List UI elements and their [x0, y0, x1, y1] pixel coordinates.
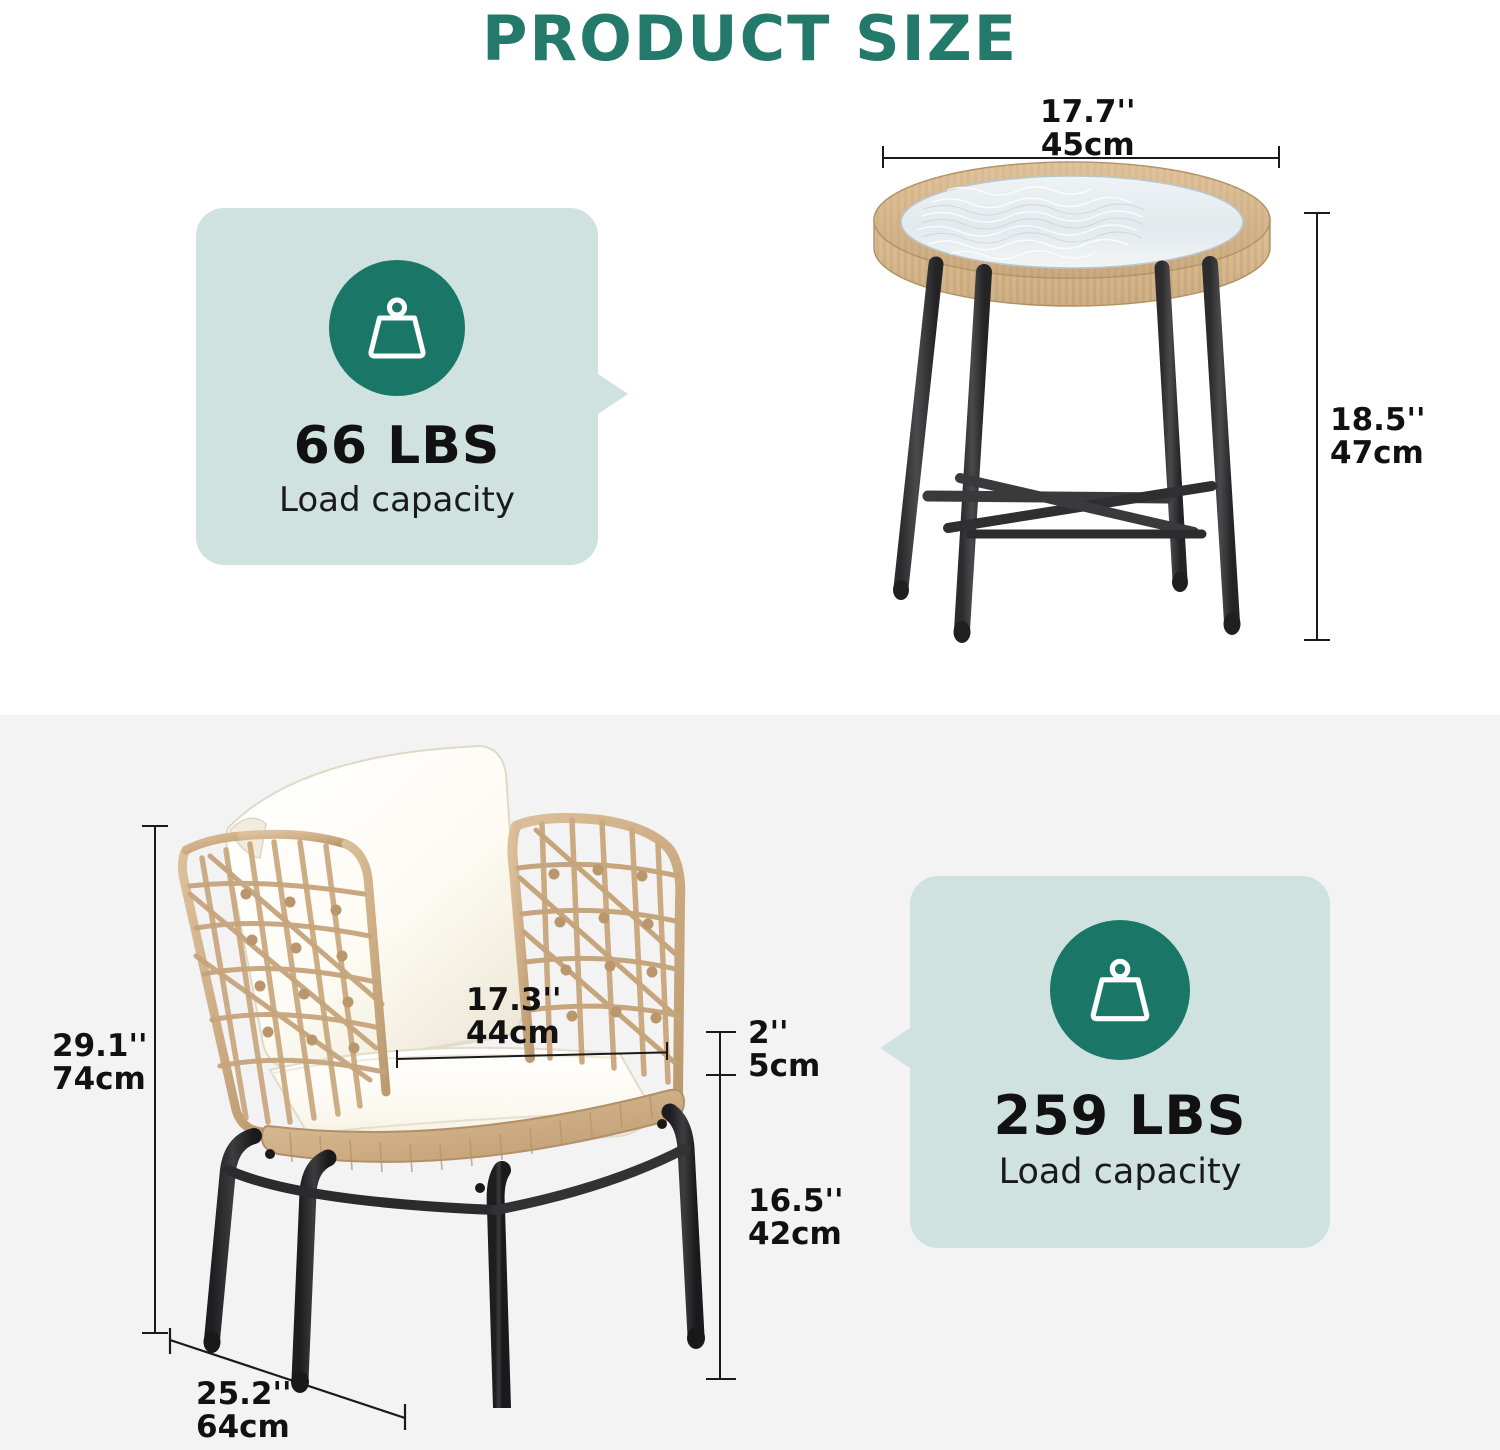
callout-table-load-capacity: 66 LBS Load capacity	[196, 208, 598, 565]
dimension-cm: 42cm	[748, 1218, 843, 1251]
capacity-value: 259 LBS	[910, 1084, 1330, 1147]
dimension-cm: 44cm	[466, 1017, 561, 1050]
dimension-cm: 47cm	[1330, 437, 1425, 470]
dimension-table-width-label: 17.7'' 45cm	[1040, 96, 1135, 163]
dimension-table-height-label: 18.5'' 47cm	[1330, 404, 1425, 471]
dimension-inch: 2''	[748, 1015, 789, 1051]
bubble-tail-left-icon	[880, 1028, 910, 1068]
capacity-label: Load capacity	[196, 480, 598, 520]
dimension-inch: 29.1''	[52, 1028, 147, 1064]
weight-icon-badge	[1050, 920, 1190, 1060]
dimension-cm: 5cm	[748, 1050, 820, 1083]
capacity-value: 66 LBS	[196, 416, 598, 476]
dimension-seat-width-label: 17.3'' 44cm	[466, 984, 561, 1051]
dimension-chair-width-line	[140, 1310, 430, 1430]
dimension-inch: 17.7''	[1040, 94, 1135, 130]
dimension-inch: 16.5''	[748, 1183, 843, 1219]
dimension-inch: 18.5''	[1330, 402, 1425, 438]
dimension-inch: 17.3''	[466, 982, 561, 1018]
armchair-illustration	[150, 718, 730, 1408]
dimension-chair-height-label: 29.1'' 74cm	[52, 1030, 147, 1097]
page-title: PRODUCT SIZE	[0, 2, 1500, 75]
weight-icon	[357, 288, 437, 368]
side-table-illustration	[862, 160, 1332, 680]
weight-icon-badge	[329, 260, 465, 396]
dimension-cushion-thickness-label: 2'' 5cm	[748, 1017, 820, 1084]
product-size-infographic: PRODUCT SIZE 66 LBS Load capacity	[0, 0, 1500, 1450]
dimension-cm: 74cm	[52, 1063, 147, 1096]
dimension-seat-height-label: 16.5'' 42cm	[748, 1185, 843, 1252]
callout-chair-load-capacity: 259 LBS Load capacity	[910, 876, 1330, 1248]
bubble-tail-right-icon	[598, 374, 628, 414]
capacity-label: Load capacity	[910, 1152, 1330, 1192]
weight-icon	[1079, 949, 1161, 1031]
